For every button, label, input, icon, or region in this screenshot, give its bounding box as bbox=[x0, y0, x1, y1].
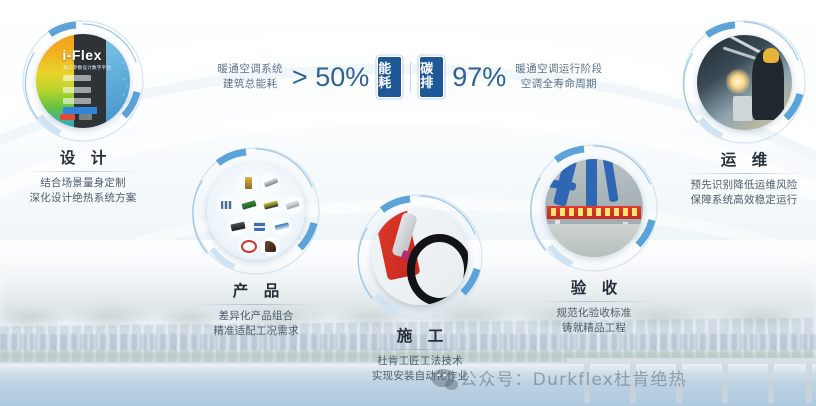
iflex-caption-text: 施工参数设计数字平台 bbox=[63, 65, 111, 71]
product-hex-cell bbox=[217, 194, 236, 215]
watermark-text: 公众号：Durkflex杜肯绝热 bbox=[460, 365, 687, 390]
operation-caption: 运 维 预先识别降低运维风险 保障系统高效稳定运行 bbox=[649, 148, 816, 208]
iflex-tag-gray bbox=[79, 114, 92, 120]
badge-divider bbox=[410, 62, 411, 92]
design-divider bbox=[23, 171, 143, 172]
design-subtitle-line1: 结合场景量身定制 bbox=[0, 176, 178, 191]
iflex-tag-red bbox=[60, 114, 75, 120]
blue-panel bbox=[106, 34, 130, 128]
product-hex-grid bbox=[207, 162, 305, 260]
ribbon-left-value: > 50% bbox=[292, 62, 369, 93]
iflex-field-row-3 bbox=[63, 98, 91, 104]
stage-node-acceptance[interactable]: 验 收 规范化验收标准 铸就精品工程 bbox=[528, 142, 660, 274]
ribbon-left-caption-line2: 建筑总能耗 bbox=[218, 77, 283, 92]
product-divider bbox=[196, 304, 316, 305]
blue-duct bbox=[602, 159, 618, 203]
product-caption: 产 品 差异化产品组合 精准适配工况需求 bbox=[161, 279, 351, 339]
construction-title: 施 工 bbox=[325, 324, 515, 346]
operation-subtitle-line1: 预先识别降低运维风险 bbox=[649, 178, 816, 193]
acceptance-title: 验 收 bbox=[499, 276, 689, 298]
badge-carbon-label: 碳排 bbox=[420, 63, 443, 91]
acceptance-subtitle-line1: 规范化验收标准 bbox=[499, 306, 689, 321]
acceptance-caption: 验 收 规范化验收标准 铸就精品工程 bbox=[499, 276, 689, 336]
product-hex-cell bbox=[261, 194, 280, 215]
automated-installation-photo bbox=[372, 209, 468, 305]
product-hex-cell bbox=[261, 172, 280, 193]
ribbon-left-caption-line1: 暖通空调系统 bbox=[218, 62, 283, 77]
equipment-box bbox=[733, 96, 752, 121]
stage-node-construction[interactable]: 施 工 杜肯工匠工法技术 实现安装自动化作业 bbox=[355, 192, 485, 322]
product-hex-cell bbox=[239, 172, 258, 193]
design-caption: 设 计 结合场景量身定制 深化设计绝热系统方案 bbox=[0, 146, 178, 206]
iflex-app-screenshot: i-Flex 施工参数设计数字平台 bbox=[36, 34, 130, 128]
sun-flare bbox=[726, 69, 751, 94]
product-thumbnail bbox=[207, 162, 305, 260]
construction-thumbnail bbox=[372, 209, 468, 305]
product-hex-cell bbox=[283, 194, 302, 215]
blue-duct bbox=[547, 179, 577, 191]
red-banner-text bbox=[551, 208, 637, 216]
product-subtitle-line2: 精准适配工况需求 bbox=[161, 324, 351, 339]
acceptance-site-photo bbox=[545, 159, 643, 257]
ribbon-left-caption: 暖通空调系统 建筑总能耗 bbox=[218, 62, 283, 92]
site-floor bbox=[545, 224, 643, 257]
wechat-icon bbox=[432, 369, 454, 387]
statistics-ribbon: 暖通空调系统 建筑总能耗 > 50% 能耗 碳排 97% 暖通空调运行阶段 空调… bbox=[150, 42, 670, 112]
badge-energy-consumption: 能耗 bbox=[378, 57, 401, 97]
iflex-logo-text: i-Flex bbox=[62, 47, 102, 63]
operation-thumbnail bbox=[697, 35, 792, 130]
product-hex-cell bbox=[250, 216, 269, 237]
ribbon-right-caption: 暖通空调运行阶段 空调全寿命周期 bbox=[515, 62, 602, 92]
iflex-field-row-1 bbox=[63, 75, 91, 81]
poster-canvas: 暖通空调系统 建筑总能耗 > 50% 能耗 碳排 97% 暖通空调运行阶段 空调… bbox=[0, 0, 816, 406]
acceptance-thumbnail bbox=[545, 159, 643, 257]
badge-energy-label: 能耗 bbox=[378, 63, 401, 91]
design-subtitle-line2: 深化设计绝热系统方案 bbox=[0, 191, 178, 206]
badge-carbon-emission: 碳排 bbox=[420, 57, 443, 97]
product-hex-cell bbox=[239, 194, 258, 215]
construction-divider bbox=[360, 349, 480, 350]
product-hex-cell bbox=[261, 236, 280, 257]
product-subtitle-line1: 差异化产品组合 bbox=[161, 309, 351, 324]
design-thumbnail: i-Flex 施工参数设计数字平台 bbox=[36, 34, 130, 128]
safety-helmet bbox=[763, 48, 779, 62]
watermark: 公众号：Durkflex杜肯绝热 bbox=[432, 365, 687, 390]
product-hex-cell bbox=[228, 216, 247, 237]
ribbon-right-caption-line1: 暖通空调运行阶段 bbox=[515, 62, 602, 77]
particle-dots bbox=[122, 58, 129, 105]
iflex-field-row-2 bbox=[63, 87, 91, 93]
product-hex-cell bbox=[239, 236, 258, 257]
insulation-tube bbox=[407, 234, 468, 305]
stage-node-design[interactable]: i-Flex 施工参数设计数字平台 设 计 结合场景量身定制 深化设计绝热系统方… bbox=[20, 18, 146, 144]
operation-title: 运 维 bbox=[649, 148, 816, 170]
product-title: 产 品 bbox=[161, 279, 351, 301]
stage-node-operation[interactable]: 运 维 预先识别降低运维风险 保障系统高效稳定运行 bbox=[680, 18, 808, 146]
operation-subtitle-line2: 保障系统高效稳定运行 bbox=[649, 193, 816, 208]
product-hex-cell bbox=[272, 216, 291, 237]
acceptance-subtitle-line2: 铸就精品工程 bbox=[499, 321, 689, 336]
stage-node-product[interactable]: 产 品 差异化产品组合 精准适配工况需求 bbox=[190, 145, 322, 277]
acceptance-divider bbox=[534, 301, 654, 302]
ribbon-right-caption-line2: 空调全寿命周期 bbox=[515, 77, 602, 92]
design-title: 设 计 bbox=[0, 146, 178, 168]
maintenance-engineer-photo bbox=[697, 35, 792, 130]
blue-duct bbox=[586, 159, 597, 208]
operation-divider bbox=[684, 173, 804, 174]
ribbon-right-value: 97% bbox=[452, 62, 506, 93]
